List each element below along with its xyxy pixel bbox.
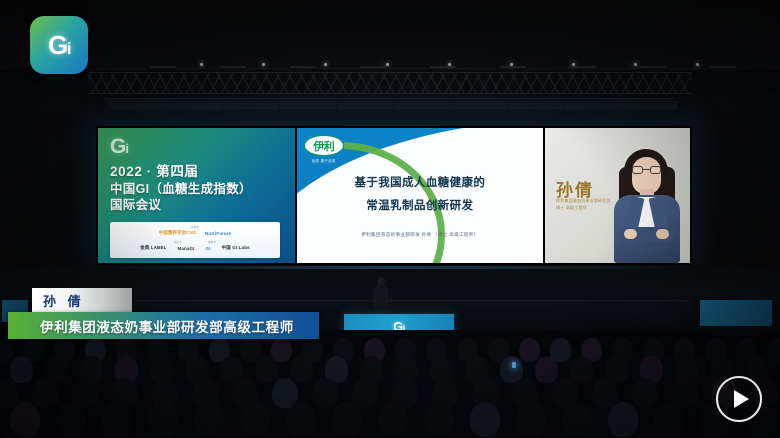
conference-title-line1: 2022 · 第四届 <box>110 163 285 181</box>
audience-phone-screen <box>512 362 516 368</box>
audience-silhouette <box>519 338 540 362</box>
stage-light <box>634 63 637 66</box>
conference-title: 2022 · 第四届 中国GI（血糖生成指数） 国际会议 <box>110 163 285 214</box>
glasses-icon <box>632 166 643 174</box>
led-video-wall: Gi 2022 · 第四届 中国GI（血糖生成指数） 国际会议 主办方 中国营养… <box>96 126 692 265</box>
conference-title-line2: 中国GI（血糖生成指数） <box>110 181 285 198</box>
slide-title: 基于我国成人血糖健康的 常温乳制品创新研发 <box>297 172 543 218</box>
led-panel-speaker-card: 孙倩 伊利集团液态奶事业部研发部 博士 高级工程师 <box>545 128 690 263</box>
rig-bar <box>290 66 316 68</box>
audience-silhouette <box>255 356 278 383</box>
gi-watermark-text: Gi <box>48 32 70 58</box>
sponsor-host-caption: 主办方 <box>191 225 199 229</box>
sponsor-support-caption-left: 支持方 <box>174 240 182 244</box>
audience-silhouette <box>32 378 58 408</box>
yili-tagline: 品质 源于自然 <box>304 158 344 163</box>
sponsor-host-logo-1: 中国营养学会CNS <box>159 230 196 236</box>
stage-light <box>324 63 327 66</box>
slide-title-line1: 基于我国成人血糖健康的 <box>297 172 543 195</box>
stage-light <box>386 63 389 66</box>
led-panel-slide: 伊利 品质 源于自然 基于我国成人血糖健康的 常温乳制品创新研发 伊利集团液态奶… <box>297 128 543 263</box>
conference-title-line3: 国际会议 <box>110 197 285 214</box>
audience-silhouette <box>767 338 780 362</box>
audience-silhouette <box>332 402 362 437</box>
soffit-segment <box>394 101 450 109</box>
caption-speaker-title: 伊利集团液态奶事业部研发部高级工程师 <box>40 316 294 336</box>
stage-soffit <box>105 98 675 120</box>
audience-silhouette <box>632 378 658 408</box>
audience-area <box>0 330 780 438</box>
caption-speaker-name: 孙 倩 <box>43 291 85 310</box>
audience-silhouette <box>516 402 546 437</box>
lower-third-caption: 孙 倩 伊利集团液态奶事业部研发部高级工程师 <box>0 288 340 342</box>
rig-bar <box>500 66 526 68</box>
audience-silhouette <box>608 402 638 437</box>
audience-silhouette <box>194 402 224 437</box>
audience-silhouette <box>10 402 40 437</box>
sponsor-logo-2: ManaGI <box>178 246 195 251</box>
stage-light <box>262 63 265 66</box>
yili-brand-logo: 伊利 品质 源于自然 <box>304 135 344 169</box>
soffit-segment <box>565 101 621 109</box>
caption-speaker-title-bar: 伊利集团液态奶事业部研发部高级工程师 <box>8 312 319 339</box>
sponsor-logo-4: 中国 GI Labs <box>222 245 250 251</box>
rig-bar <box>360 66 386 68</box>
video-player-frame[interactable]: Gi 2022 · 第四届 中国GI（血糖生成指数） 国际会议 主办方 中国营养… <box>0 0 780 438</box>
audience-silhouette <box>10 356 33 383</box>
stage-side-screen-right <box>700 300 772 326</box>
rig-bar <box>150 66 176 68</box>
audience-silhouette <box>570 356 593 383</box>
rig-bar <box>640 66 666 68</box>
audience-silhouette <box>312 378 338 408</box>
stage-light <box>200 63 203 66</box>
caption-speaker-name-bar: 孙 倩 <box>32 288 132 312</box>
slide-title-line2: 常温乳制品创新研发 <box>297 195 543 218</box>
rig-bar <box>220 66 246 68</box>
soffit-segment <box>508 101 564 109</box>
sponsor-logo-3: GI <box>206 246 211 251</box>
soffit-segment <box>223 101 279 109</box>
rig-bar <box>430 66 456 68</box>
audience-silhouette <box>654 402 684 437</box>
audience-silhouette <box>352 378 378 408</box>
audience-silhouette <box>148 402 178 437</box>
soffit-segment <box>622 101 678 109</box>
soffit-segment <box>451 101 507 109</box>
led-panel-conference: Gi 2022 · 第四届 中国GI（血糖生成指数） 国际会议 主办方 中国营养… <box>98 128 295 263</box>
stage-light <box>696 63 699 66</box>
audience-silhouette <box>535 356 558 383</box>
audience-silhouette <box>378 402 408 437</box>
soffit-segment <box>280 101 336 109</box>
audience-silhouette <box>562 402 592 437</box>
sponsor-host-logo-2: NutriFuture <box>205 231 231 236</box>
audience-silhouette <box>424 402 454 437</box>
audience-silhouette <box>56 402 86 437</box>
audience-silhouette <box>240 402 270 437</box>
audience-silhouette <box>470 402 500 437</box>
audience-silhouette <box>286 402 316 437</box>
stage-edge-glow <box>96 266 692 269</box>
audience-silhouette <box>102 402 132 437</box>
play-icon <box>734 390 749 408</box>
sponsor-logo-1: 金典 LABEL <box>140 245 166 251</box>
gi-watermark-logo: Gi <box>30 16 88 74</box>
audience-silhouette <box>290 356 313 383</box>
rig-bar <box>570 66 596 68</box>
sponsor-logo-box: 主办方 中国营养学会CNS NutriFuture 支持方 协办方 金典 LAB… <box>110 222 280 258</box>
rig-bar <box>710 66 736 68</box>
slide-byline: 伊利集团液态奶事业部研发 孙倩 （博士 高级工程师） <box>297 232 543 238</box>
yili-logo-mark: 伊利 <box>304 135 344 156</box>
conference-gi-logo: Gi <box>110 136 285 157</box>
sponsor-support-caption-right: 协办方 <box>208 240 216 244</box>
speaker-portrait-photo <box>606 141 686 263</box>
play-button[interactable] <box>716 376 762 422</box>
soffit-segment <box>166 101 222 109</box>
soffit-segment <box>109 101 165 109</box>
soffit-segment <box>337 101 393 109</box>
